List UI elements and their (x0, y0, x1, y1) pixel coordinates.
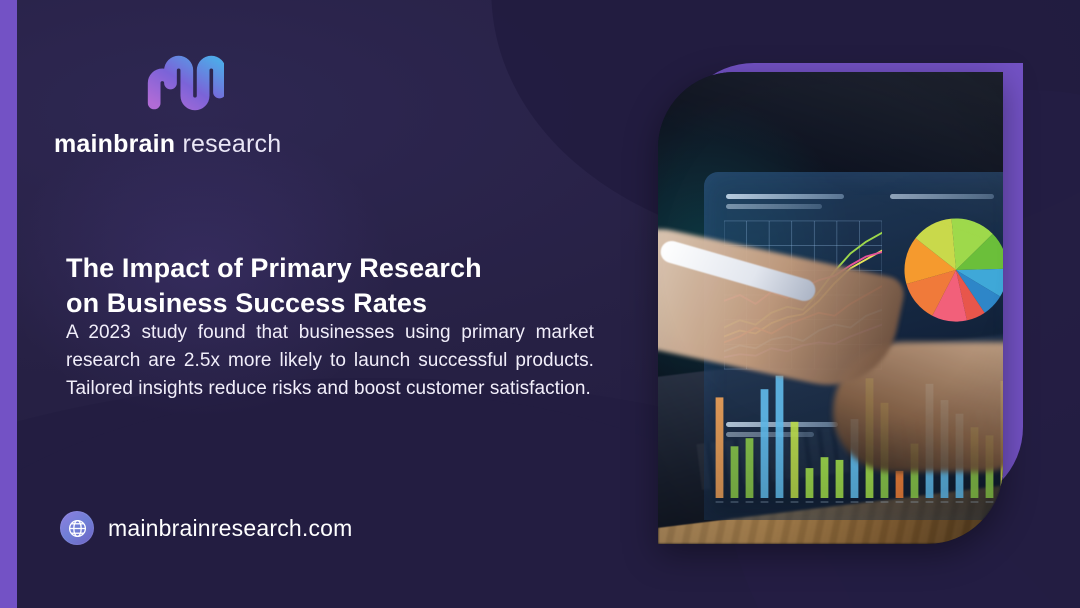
left-accent-rail (0, 0, 17, 608)
wordmark-bold: mainbrain (54, 130, 175, 158)
wave-m-logo-icon (146, 52, 224, 114)
dashboard-label-bar (726, 194, 844, 199)
dashboard-label-bar (890, 194, 994, 199)
social-card: mainbrain research The Impact of Primary… (0, 0, 1080, 608)
brand-wordmark: mainbrain research (54, 130, 474, 159)
pie-chart (900, 214, 1003, 326)
headline: The Impact of Primary Research on Busine… (66, 251, 606, 320)
headline-line-2: on Business Success Rates (66, 286, 606, 321)
analytics-photo (658, 72, 1003, 544)
footer-website[interactable]: mainbrainresearch.com (60, 511, 353, 545)
dashboard-label-bar (726, 204, 822, 209)
website-url-text: mainbrainresearch.com (108, 515, 353, 542)
headline-line-1: The Impact of Primary Research (66, 251, 606, 286)
globe-icon (60, 511, 94, 545)
wordmark-light: research (182, 130, 281, 158)
brand-logo: mainbrain research (54, 52, 474, 159)
body-paragraph: A 2023 study found that businesses using… (66, 319, 594, 403)
